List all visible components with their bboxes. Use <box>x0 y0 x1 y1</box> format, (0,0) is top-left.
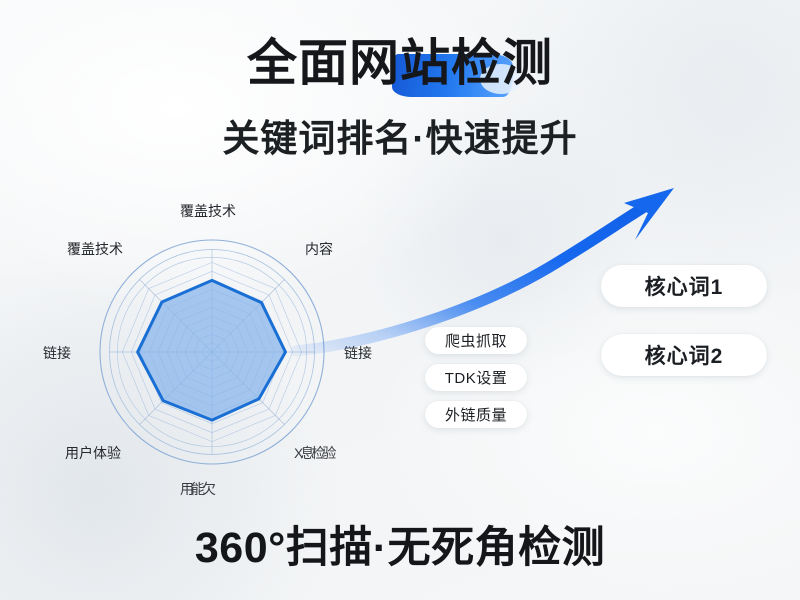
pill-tdk-label: TDK设置 <box>445 367 508 388</box>
pill-keyword-1-label: 核心词1 <box>645 271 724 301</box>
pill-crawler-label: 爬虫抓取 <box>445 330 507 351</box>
headline-container: 全面网站检测 <box>0 34 800 92</box>
pill-keyword-2-label: 核心词2 <box>645 340 724 370</box>
pill-tdk[interactable]: TDK设置 <box>425 364 527 391</box>
poster-canvas: 全面网站检测 关键词排名·快速提升 覆盖技术内容链接X息检验用能欠用户体验链接覆… <box>0 0 800 600</box>
pill-crawler[interactable]: 爬虫抓取 <box>425 327 527 354</box>
radar-axis-label-3: X息检验 <box>294 444 333 462</box>
radar-axis-label-0: 覆盖技术 <box>180 202 236 220</box>
pill-backlink[interactable]: 外链质量 <box>425 401 527 428</box>
pill-backlink-label: 外链质量 <box>445 404 507 425</box>
page-title-text: 全面网站检测 <box>247 35 553 91</box>
pill-keyword-2[interactable]: 核心词2 <box>601 334 767 376</box>
footer-tagline: 360°扫描·无死角检测 <box>0 522 800 574</box>
radar-axis-label-4: 用能欠 <box>180 480 213 498</box>
radar-axis-label-7: 覆盖技术 <box>67 240 123 258</box>
radar-axis-label-5: 用户体验 <box>65 444 121 462</box>
pill-keyword-1[interactable]: 核心词1 <box>601 265 767 307</box>
radar-axis-label-6: 链接 <box>43 344 71 362</box>
page-title: 全面网站检测 <box>247 34 553 92</box>
subtitle: 关键词排名·快速提升 <box>0 116 800 161</box>
